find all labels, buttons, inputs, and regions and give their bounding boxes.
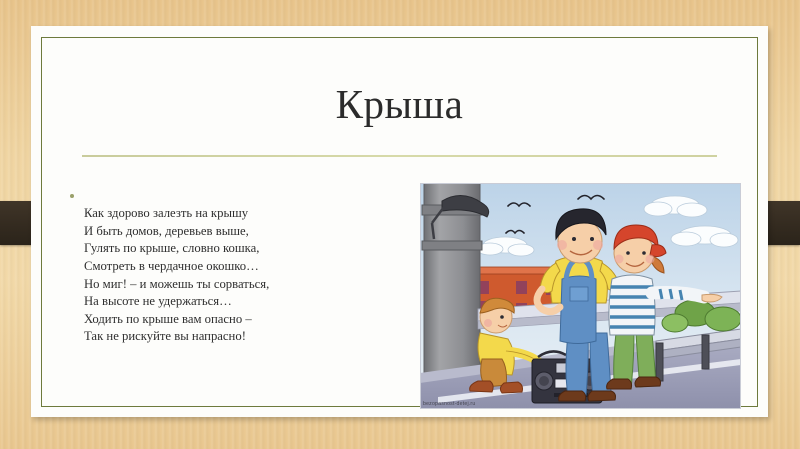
illustration-watermark: bezopasnost-detej.ru	[423, 401, 475, 407]
slide-background: Крыша Как здорово залезть на крышу И быт…	[0, 0, 800, 449]
poem-first-line-wrap: Как здорово залезть на крышу	[84, 188, 384, 223]
illustration-frame: bezopasnost-detej.ru	[420, 183, 741, 409]
poem-text: Как здорово залезть на крышу И быть домо…	[84, 170, 384, 346]
bullet-icon	[70, 194, 74, 198]
rooftop-illustration-svg	[420, 183, 741, 409]
slide-content: Как здорово залезть на крышу И быть домо…	[41, 164, 758, 405]
poem-column: Как здорово залезть на крышу И быть домо…	[84, 170, 384, 346]
rooftop-illustration: bezopasnost-detej.ru	[420, 183, 741, 409]
page-title: Крыша	[31, 83, 768, 126]
poem-first-line: Как здорово залезть на крышу	[84, 206, 248, 220]
poem-remaining-lines: И быть домов, деревьев выше, Гулять по к…	[84, 224, 269, 344]
slide-page: Крыша Как здорово залезть на крышу И быт…	[31, 26, 768, 417]
title-divider	[82, 155, 717, 157]
